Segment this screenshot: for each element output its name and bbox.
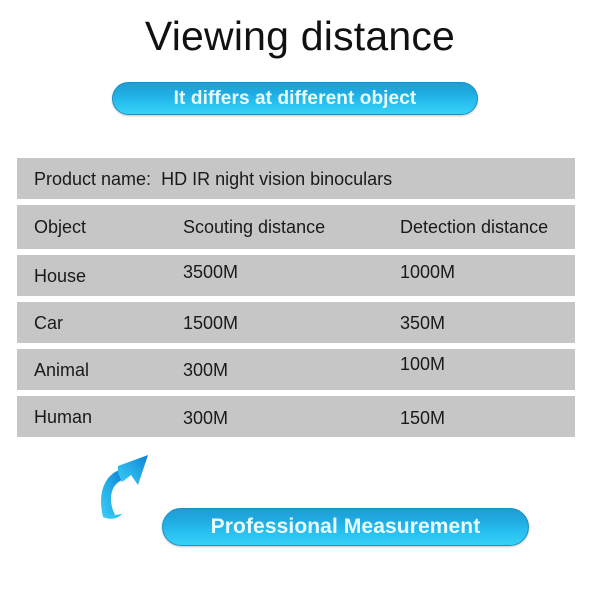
product-name-label: Product name:	[34, 169, 151, 189]
table-row: Human 300M 150M	[17, 396, 575, 437]
cell-object: Animal	[34, 360, 89, 380]
cell-scouting: 1500M	[183, 313, 238, 333]
cell-detection: 350M	[400, 313, 445, 333]
cell-object: Human	[34, 407, 92, 427]
product-spec-infographic: Viewing distance It differs at different…	[0, 0, 600, 600]
cell-detection: 1000M	[400, 262, 455, 282]
product-name-value: HD IR night vision binoculars	[161, 169, 392, 189]
cell-object: House	[34, 266, 86, 286]
subtitle-pill-label: It differs at different object	[174, 88, 417, 110]
table-row: House 3500M 1000M	[17, 255, 575, 296]
product-name-text: Product name: HD IR night vision binocul…	[34, 169, 392, 189]
column-header-scouting: Scouting distance	[183, 217, 325, 237]
cell-detection: 150M	[400, 408, 445, 428]
cell-detection: 100M	[400, 354, 445, 374]
page-title: Viewing distance	[0, 12, 600, 60]
spec-table: Product name: HD IR night vision binocul…	[17, 158, 575, 443]
column-header-object: Object	[34, 217, 86, 237]
table-row: Car 1500M 350M	[17, 302, 575, 343]
cell-object: Car	[34, 313, 63, 333]
table-row: Animal 300M 100M	[17, 349, 575, 390]
subtitle-pill: It differs at different object	[112, 82, 478, 115]
curved-up-arrow-icon	[96, 453, 168, 523]
footer-pill: Professional Measurement	[162, 508, 529, 546]
cell-scouting: 300M	[183, 408, 228, 428]
cell-scouting: 3500M	[183, 262, 238, 282]
footer-pill-label: Professional Measurement	[211, 515, 481, 539]
column-header-detection: Detection distance	[400, 217, 548, 237]
table-header-row: Object Scouting distance Detection dista…	[17, 205, 575, 249]
table-row-product-name: Product name: HD IR night vision binocul…	[17, 158, 575, 199]
cell-scouting: 300M	[183, 360, 228, 380]
